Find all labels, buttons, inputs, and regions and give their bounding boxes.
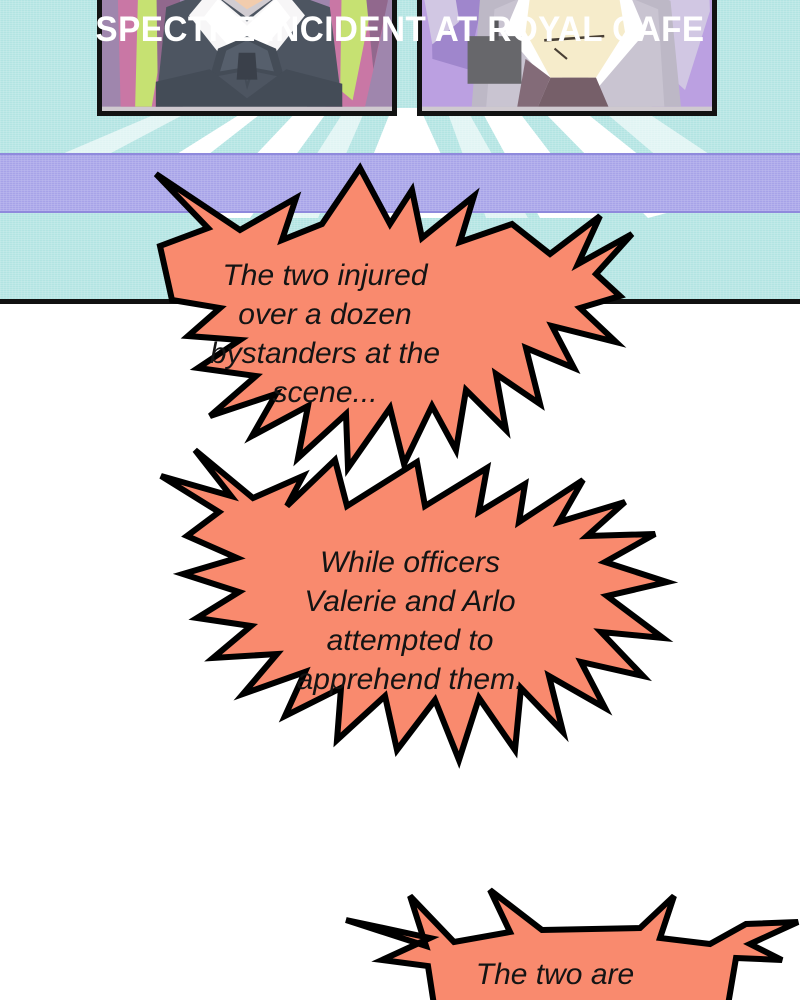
news-headline-text: SPECTRE INCIDENT AT ROYAL CAFE <box>20 0 780 60</box>
speech-bubble-2-text: While officers Valerie and Arlo attempte… <box>250 543 570 699</box>
speech-bubble-1-text: The two injured over a dozen bystanders … <box>170 256 480 412</box>
speech-bubble-3-text: The two are <box>405 955 705 994</box>
comic-page: SPECTRE INCIDENT AT ROYAL CAFE The two i… <box>0 0 800 1000</box>
